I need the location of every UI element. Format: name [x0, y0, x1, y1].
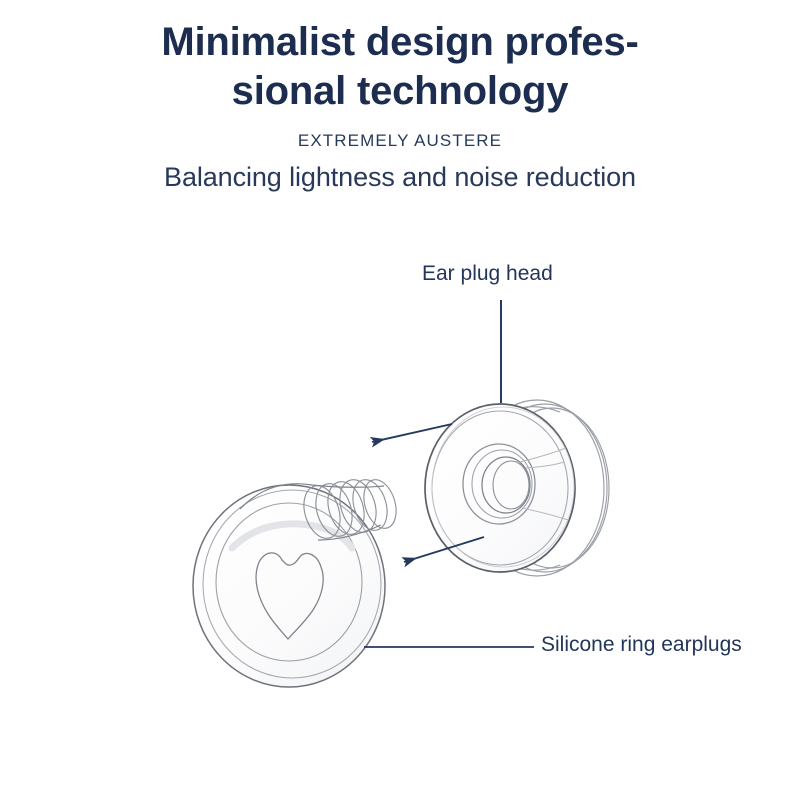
callout-label-silicone-ring-earplugs: Silicone ring earplugs	[541, 633, 742, 657]
callout-label-ear-plug-head: Ear plug head	[422, 262, 553, 286]
product-infographic-page: Minimalist design profes- sional technol…	[0, 0, 800, 800]
earplug-exploded-illustration	[0, 0, 800, 800]
ear-plug-head-part	[425, 400, 609, 576]
silicone-ring-part	[193, 475, 402, 687]
